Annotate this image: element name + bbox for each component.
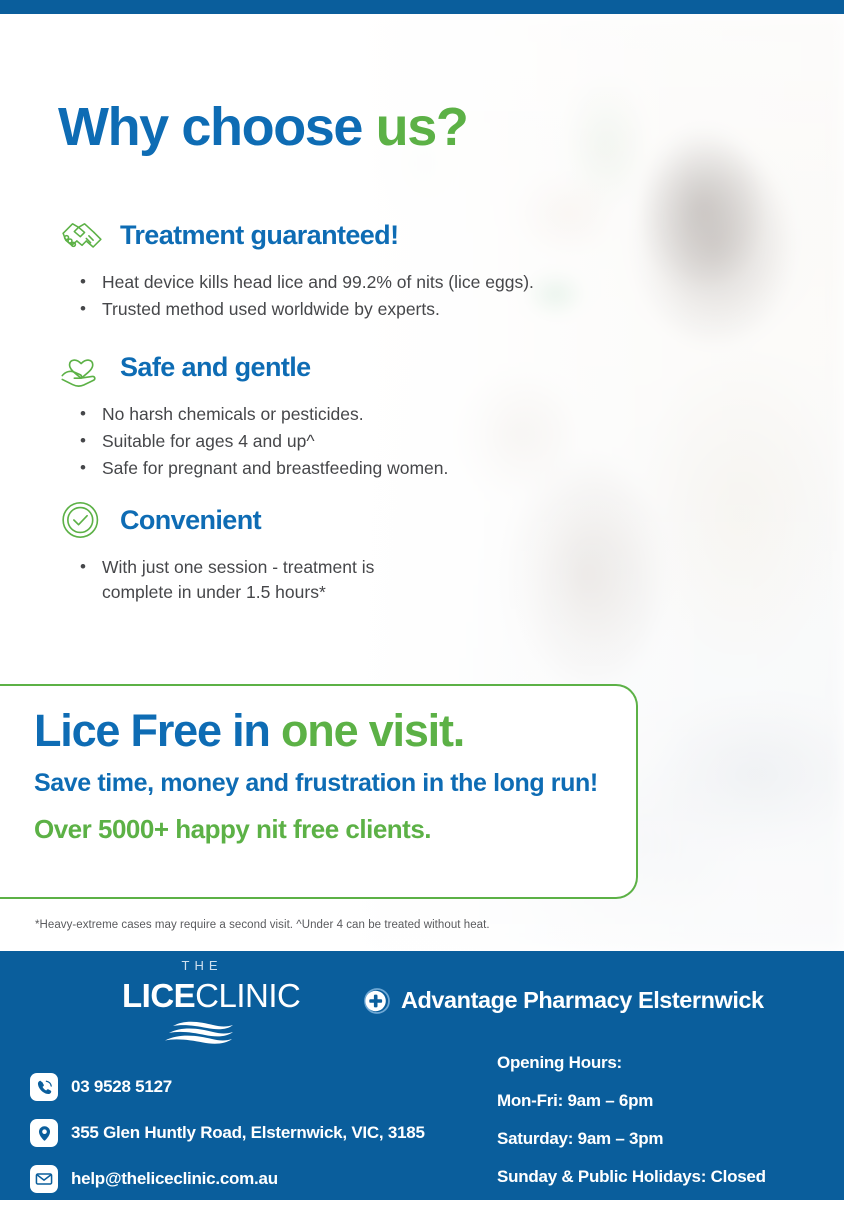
feature-header: Treatment guaranteed! [58,214,534,256]
bullet-dot: • [80,456,86,480]
phone-number: 03 9528 5127 [71,1077,172,1097]
logo-wordmark: LICECLINIC [122,979,282,1012]
bullet-item: • Trusted method used worldwide by exper… [80,297,534,322]
handshake-icon [58,214,106,256]
pharmacy-name: Advantage Pharmacy Elsternwick [401,987,764,1014]
callout-headline-main: Lice Free in [34,705,281,756]
hero-content: Why choose us? Treatment guaranteed! [0,14,844,951]
page-title: Why choose us? [58,99,467,156]
envelope-glyph [35,1170,53,1188]
bullet-item: • Suitable for ages 4 and up^ [80,429,448,454]
feature-bullet-list: • Heat device kills head lice and 99.2% … [58,270,534,322]
wave-swoosh-icon [163,1020,241,1046]
feature-title: Convenient [120,505,261,536]
bullet-text: Safe for pregnant and breastfeeding wome… [102,456,448,481]
email-address: help@theliceclinic.com.au [71,1169,278,1189]
bullet-dot: • [80,429,86,453]
hours-line-weekday: Mon-Fri: 9am – 6pm [497,1091,766,1111]
page-title-main: Why choose [58,97,376,157]
callout-stat: Over 5000+ happy nit free clients. [34,814,606,845]
check-circle-icon [58,499,106,541]
bullet-text: No harsh chemicals or pesticides. [102,402,364,427]
phone-icon [30,1073,58,1101]
lice-clinic-logo: THE LICECLINIC [122,958,282,1046]
disclaimer-text: *Heavy-extreme cases may require a secon… [35,919,490,931]
pharmacy-name-row: Advantage Pharmacy Elsternwick [364,987,764,1014]
bullet-item: • No harsh chemicals or pesticides. [80,402,448,427]
callout-headline-accent: one visit. [281,705,464,756]
hours-line-sunday: Sunday & Public Holidays: Closed [497,1167,766,1187]
callout-headline: Lice Free in one visit. [34,708,606,754]
location-pin-glyph [36,1125,53,1142]
feature-block-treatment-guaranteed: Treatment guaranteed! • Heat device kill… [58,214,534,324]
bullet-item: • With just one session - treatment is c… [80,555,432,605]
bullet-dot: • [80,555,86,579]
bullet-text: With just one session - treatment is com… [102,555,432,605]
contact-row-phone[interactable]: 03 9528 5127 [30,1073,425,1101]
footer: THE LICECLINIC Advantage Pharmacy Elster… [0,951,844,1200]
bullet-dot: • [80,297,86,321]
bullet-text: Trusted method used worldwide by experts… [102,297,440,322]
heart-in-hand-icon [58,346,106,388]
footer-contacts: 03 9528 5127 355 Glen Huntly Road, Elste… [30,1073,425,1211]
feature-block-safe-and-gentle: Safe and gentle • No harsh chemicals or … [58,346,448,483]
opening-hours: Opening Hours: Mon-Fri: 9am – 6pm Saturd… [497,1053,766,1205]
opening-hours-heading: Opening Hours: [497,1053,766,1073]
plus-circle-icon [364,988,390,1014]
feature-title: Treatment guaranteed! [120,220,398,251]
bullet-text: Heat device kills head lice and 99.2% of… [102,270,534,295]
bullet-item: • Safe for pregnant and breastfeeding wo… [80,456,448,481]
hero-section: Why choose us? Treatment guaranteed! [0,14,844,951]
feature-header: Convenient [58,499,432,541]
logo-clinic-text: CLINIC [195,977,300,1014]
email-icon [30,1165,58,1193]
lice-free-callout: Lice Free in one visit. Save time, money… [0,684,638,899]
logo-the-text: THE [122,958,282,973]
location-icon [30,1119,58,1147]
phone-glyph [36,1079,53,1096]
hours-line-saturday: Saturday: 9am – 3pm [497,1129,766,1149]
top-accent-bar [0,0,844,14]
callout-subheadline: Save time, money and frustration in the … [34,768,606,798]
bullet-dot: • [80,402,86,426]
feature-block-convenient: Convenient • With just one session - tre… [58,499,432,607]
feature-bullet-list: • With just one session - treatment is c… [58,555,432,605]
logo-lice-text: LICE [122,977,195,1014]
bullet-dot: • [80,270,86,294]
feature-bullet-list: • No harsh chemicals or pesticides. • Su… [58,402,448,481]
bullet-item: • Heat device kills head lice and 99.2% … [80,270,534,295]
contact-row-email[interactable]: help@theliceclinic.com.au [30,1165,425,1193]
feature-title: Safe and gentle [120,352,311,383]
feature-header: Safe and gentle [58,346,448,388]
bullet-text: Suitable for ages 4 and up^ [102,429,315,454]
contact-row-address[interactable]: 355 Glen Huntly Road, Elsternwick, VIC, … [30,1119,425,1147]
address-text: 355 Glen Huntly Road, Elsternwick, VIC, … [71,1123,425,1143]
page-title-accent: us? [376,97,468,157]
